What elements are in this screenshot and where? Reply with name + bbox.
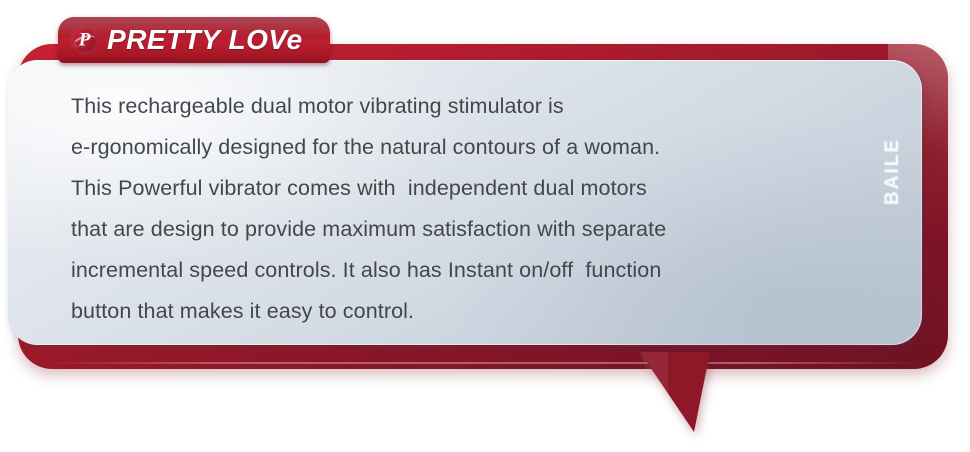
description-bubble: This rechargeable dual motor vibrating s…	[8, 60, 922, 345]
description-line: e-rgonomically designed for the natural …	[71, 127, 882, 168]
description-line: incremental speed controls. It also has …	[71, 250, 882, 291]
baile-watermark: BAILE	[882, 138, 904, 205]
description-line: button that makes it easy to control.	[71, 291, 882, 332]
pretty-love-brand-badge: P PRETTYLOVe	[58, 17, 330, 63]
brand-word-pretty: PRETTY	[107, 24, 220, 55]
brand-word-love: LOVe	[228, 24, 302, 55]
description-line: This Powerful vibrator comes with indepe…	[71, 168, 882, 209]
description-line: This rechargeable dual motor vibrating s…	[71, 86, 882, 127]
callout-pointer-tail-shade	[640, 352, 668, 432]
monogram-letter: P	[71, 31, 98, 50]
pretty-love-p-monogram-icon: P	[71, 27, 98, 54]
plate-bottom-rim-highlight	[44, 362, 922, 364]
product-description: This rechargeable dual motor vibrating s…	[71, 86, 882, 332]
brand-wordmark: PRETTYLOVe	[107, 26, 303, 54]
promo-callout-graphic: This rechargeable dual motor vibrating s…	[0, 0, 970, 452]
description-line: that are design to provide maximum satis…	[71, 209, 882, 250]
